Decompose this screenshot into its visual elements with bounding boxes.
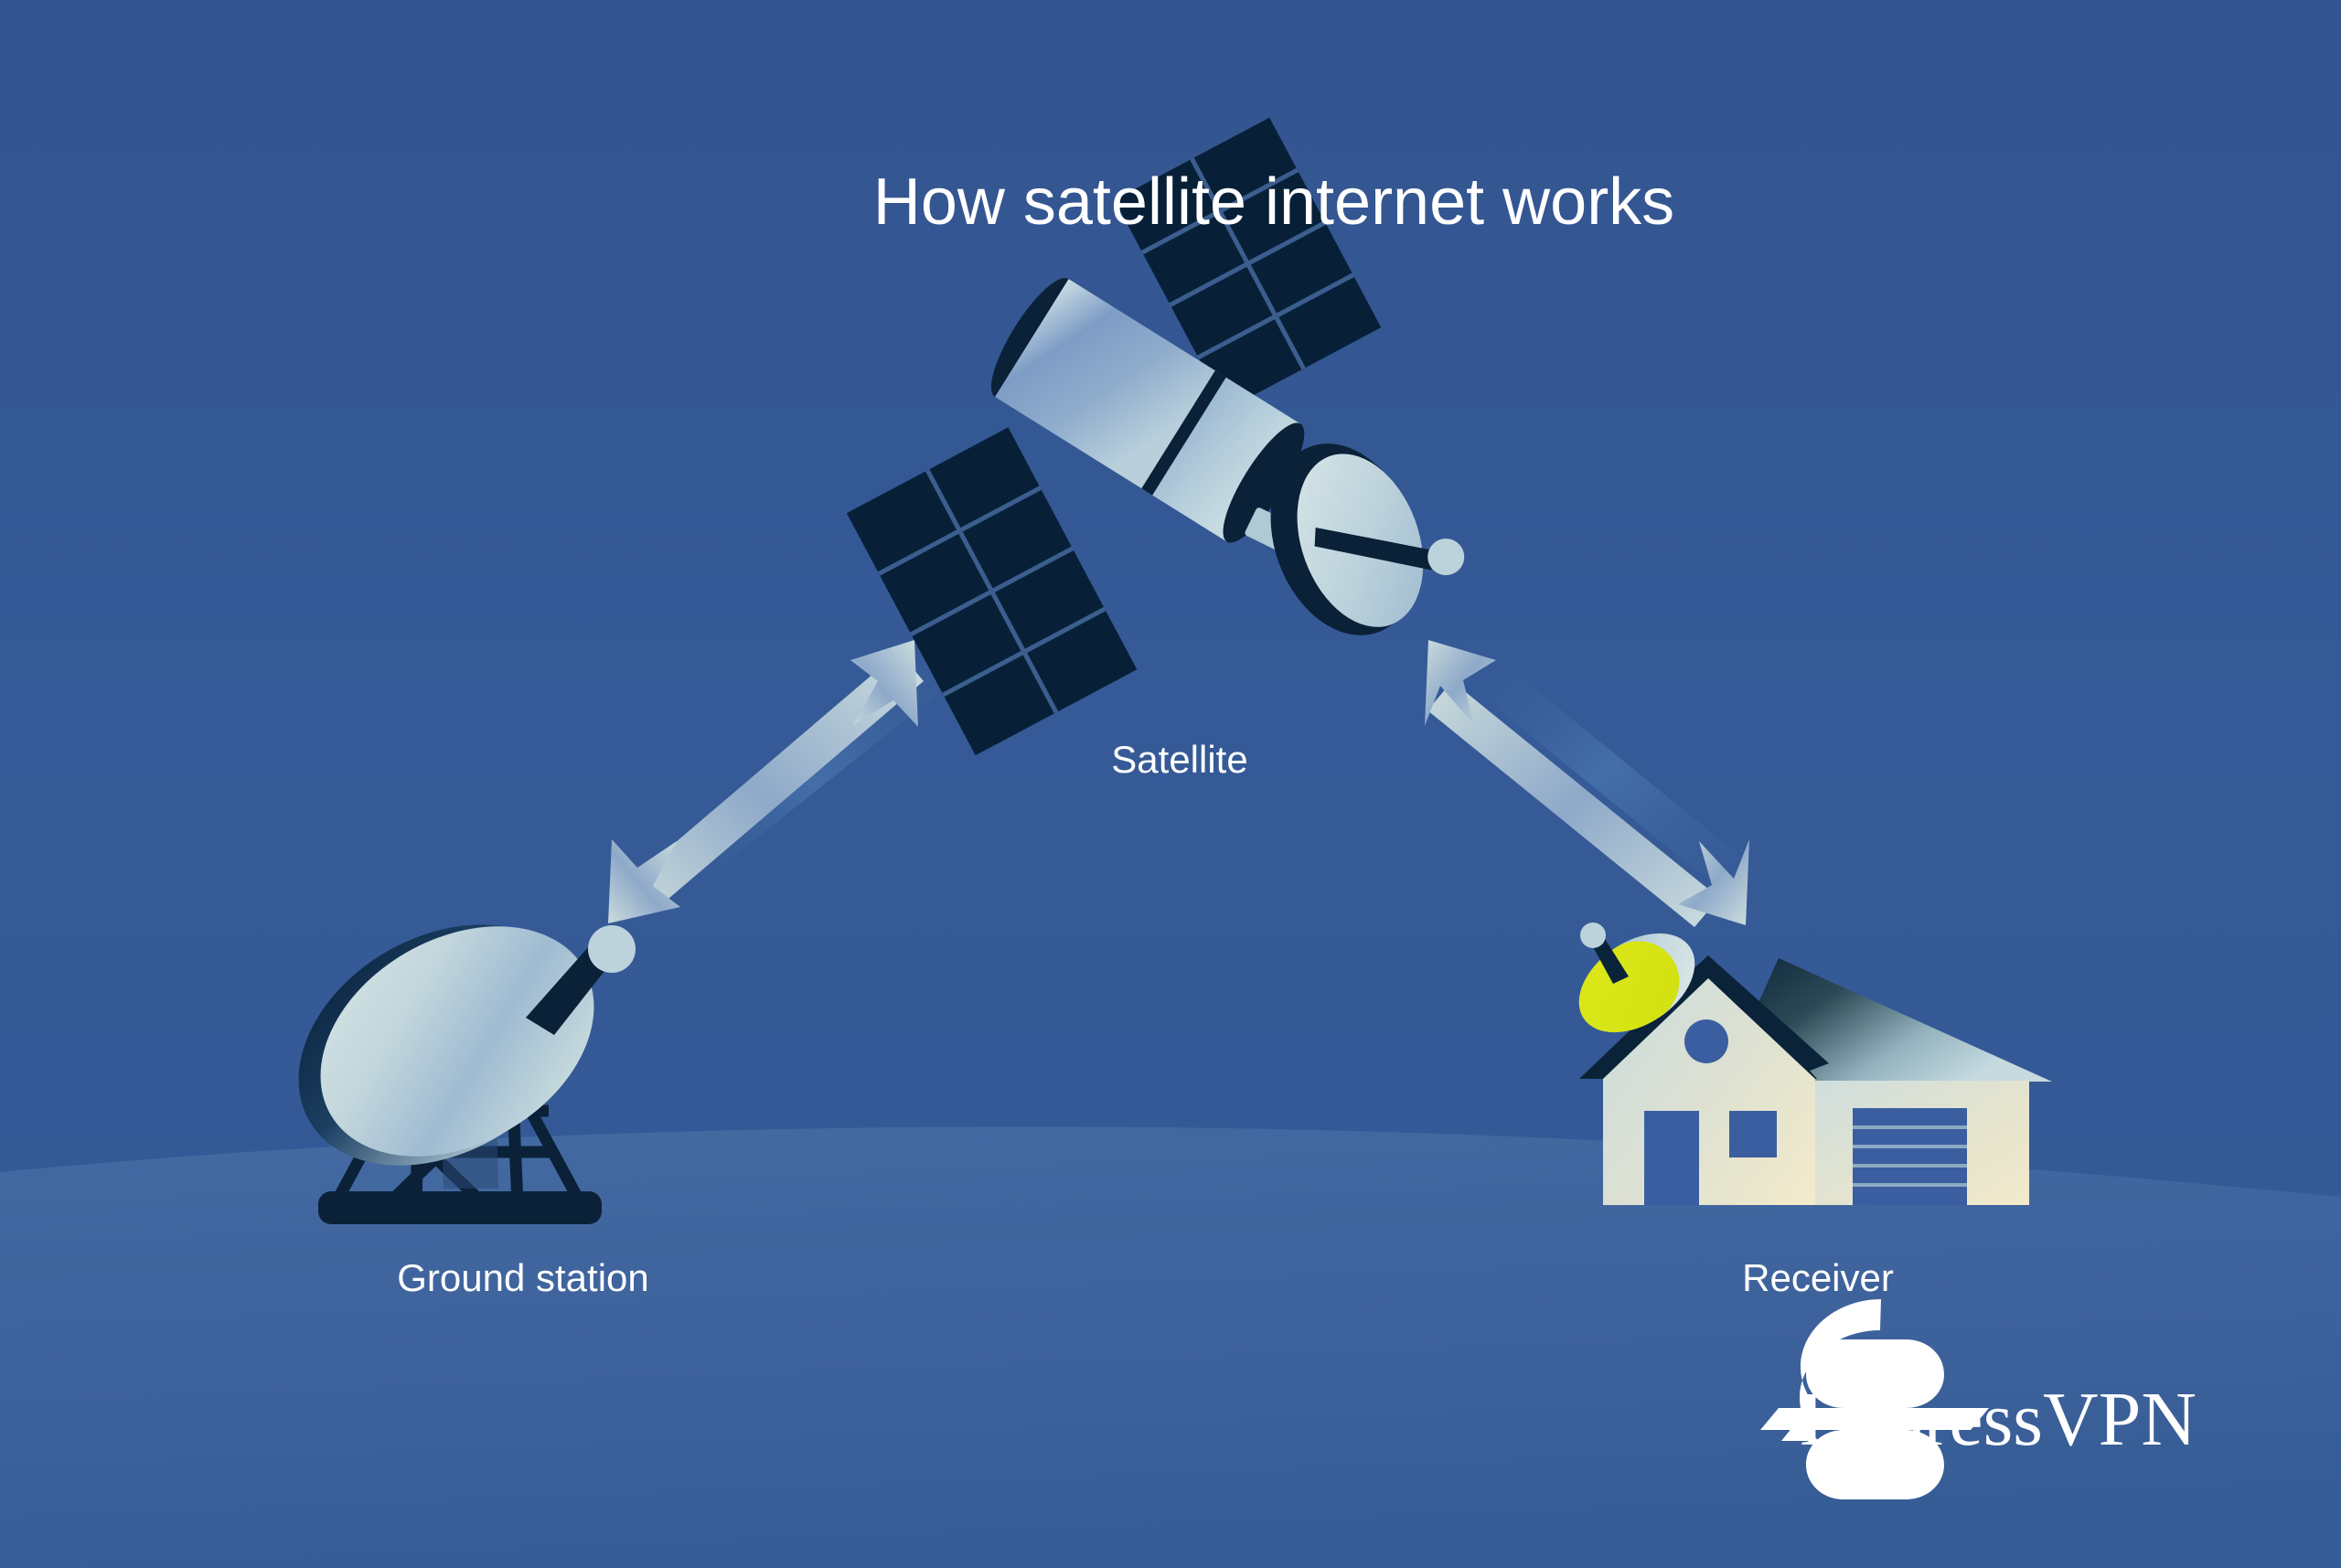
satellite-internet-diagram: How satellite internet works Satellite G…	[0, 0, 2341, 1568]
garage-door	[1853, 1108, 1967, 1205]
infographic-canvas: How satellite internet works Satellite G…	[0, 0, 2341, 1568]
attic-window	[1684, 1019, 1728, 1063]
front-window	[1729, 1111, 1777, 1157]
front-door	[1644, 1111, 1699, 1205]
expressvpn-wordmark: ExpressVPN	[1800, 1377, 2197, 1462]
tower-base	[318, 1191, 602, 1224]
label-satellite: Satellite	[1111, 738, 1247, 781]
label-receiver: Receiver	[1742, 1256, 1894, 1299]
label-ground-station: Ground station	[397, 1256, 649, 1299]
page-title: How satellite internet works	[873, 165, 1674, 239]
